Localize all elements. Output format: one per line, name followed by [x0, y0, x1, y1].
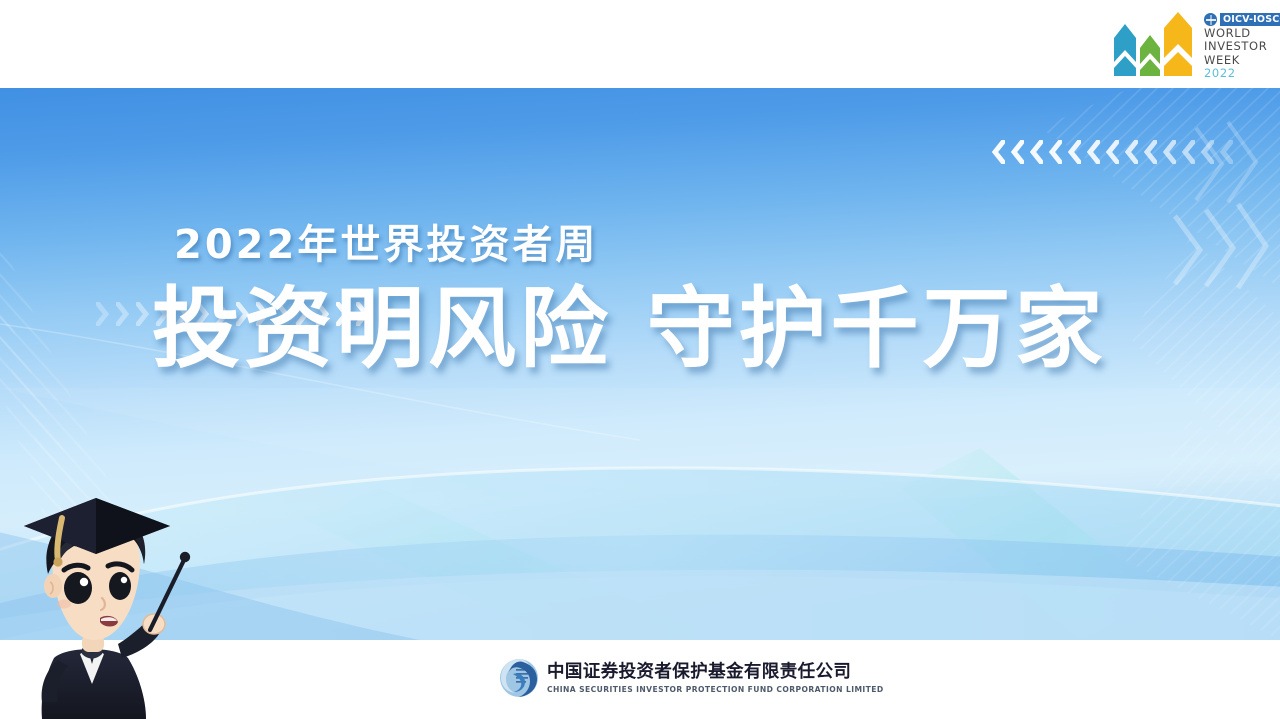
- wiw-line-investor: INVESTOR: [1204, 40, 1272, 54]
- chevron-left-icon: [1144, 140, 1157, 164]
- chevron-right-icon: [316, 302, 329, 326]
- chevron-right-icon: [296, 302, 309, 326]
- chevron-right-icon: [256, 302, 269, 326]
- chevron-right-icon: [216, 302, 229, 326]
- chevron-right-icon: [356, 302, 369, 326]
- chevron-right-icon: [176, 302, 189, 326]
- chevron-left-icon: [1030, 140, 1043, 164]
- fund-emblem-icon: [499, 658, 539, 698]
- wiw-year: 2022: [1204, 66, 1236, 80]
- chevron-left-icon: [1049, 140, 1062, 164]
- chevron-right-icon: [136, 302, 149, 326]
- graduate-teacher-mascot: [0, 488, 211, 719]
- fund-name-en: CHINA SECURITIES INVESTOR PROTECTION FUN…: [547, 685, 884, 694]
- chevron-right-icon: [116, 302, 129, 326]
- chevron-right-icon: [96, 302, 109, 326]
- fund-logo-text: 中国证券投资者保护基金有限责任公司 CHINA SECURITIES INVES…: [547, 662, 884, 693]
- world-investor-week-logo: OICV-IOSCO WORLD INVESTOR WEEK 2022: [1100, 4, 1272, 84]
- chevron-left-icon: [992, 140, 1005, 164]
- chevron-right-icon: [196, 302, 209, 326]
- iosco-label: OICV-IOSCO: [1220, 13, 1280, 26]
- chevron-left-icon: [1106, 140, 1119, 164]
- chevron-row-right-pointing: [96, 302, 369, 326]
- chevron-left-icon: [1125, 140, 1138, 164]
- chevron-left-icon: [1201, 140, 1214, 164]
- chevron-right-icon: [236, 302, 249, 326]
- chevron-left-icon: [1182, 140, 1195, 164]
- chevron-left-icon: [1068, 140, 1081, 164]
- chevron-left-icon: [1087, 140, 1100, 164]
- chevron-left-icon: [1220, 140, 1233, 164]
- chevron-left-icon: [1163, 140, 1176, 164]
- pencil-graphic-icon: [1106, 12, 1202, 80]
- wiw-line-week: WEEK: [1204, 53, 1240, 67]
- chevron-right-icon: [156, 302, 169, 326]
- chevron-left-icon: [1011, 140, 1024, 164]
- fund-name-cn: 中国证券投资者保护基金有限责任公司: [547, 662, 884, 682]
- iosco-logo: OICV-IOSCO: [1204, 13, 1280, 26]
- wiw-line-world: WORLD: [1204, 27, 1272, 41]
- wiw-wordmark: WORLD INVESTOR WEEK 2022: [1204, 27, 1272, 81]
- globe-icon: [1204, 13, 1217, 26]
- chevron-row-left-pointing: [992, 140, 1233, 164]
- chevron-right-icon: [276, 302, 289, 326]
- chevron-right-icon: [336, 302, 349, 326]
- fund-corporation-logo: 中国证券投资者保护基金有限责任公司 CHINA SECURITIES INVES…: [499, 658, 884, 698]
- top-white-strip: OICV-IOSCO WORLD INVESTOR WEEK 2022: [0, 0, 1280, 88]
